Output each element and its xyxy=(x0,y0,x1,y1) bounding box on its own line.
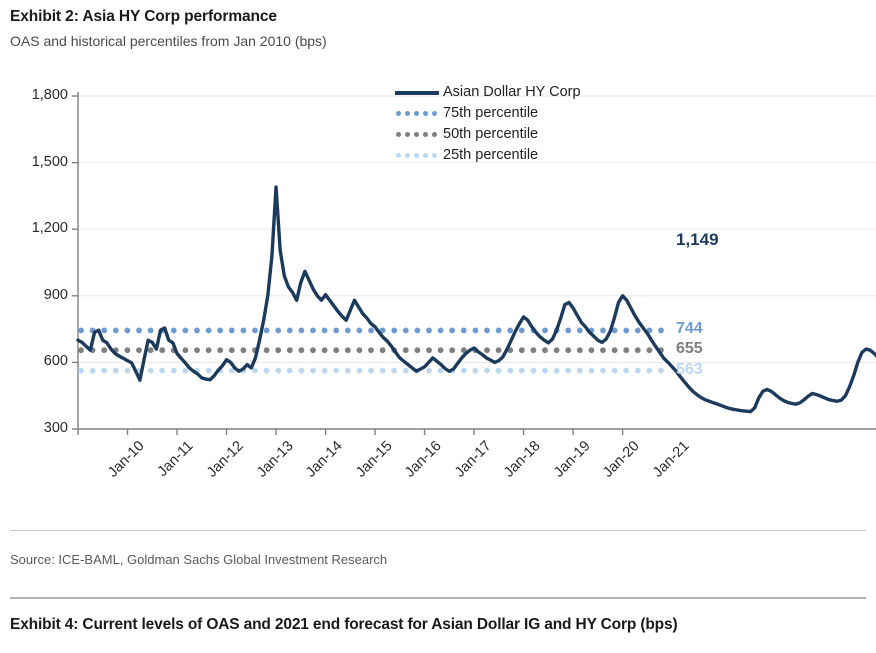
legend-label-p50: 50th percentile xyxy=(443,127,538,142)
y-tick-label: 1,800 xyxy=(4,87,68,103)
value-label-p25: 563 xyxy=(676,362,703,378)
legend-key-solid-line-icon xyxy=(395,87,439,99)
exhibit-2-title: Exhibit 2: Asia HY Corp performance xyxy=(10,8,277,26)
legend-item-p50: 50th percentile xyxy=(395,124,675,145)
value-label-p50: 655 xyxy=(676,341,703,357)
value-label-series: 1,149 xyxy=(676,231,719,248)
legend-item-series: Asian Dollar HY Corp xyxy=(395,82,675,103)
exhibit-2-subtitle: OAS and historical percentiles from Jan … xyxy=(10,33,327,49)
legend-key-dotted-p75-icon xyxy=(395,108,439,120)
y-tick-label: 1,200 xyxy=(4,220,68,236)
divider-above-source xyxy=(10,530,866,531)
asia-hy-corp-oas-chart: Asian Dollar HY Corp 75th percentile 50t… xyxy=(0,60,876,510)
exhibit-4-title: Exhibit 4: Current levels of OAS and 202… xyxy=(10,616,677,634)
y-tick-label: 900 xyxy=(4,287,68,303)
legend-label-p25: 25th percentile xyxy=(443,148,538,163)
value-label-p75: 744 xyxy=(676,321,703,337)
legend-key-dotted-p50-icon xyxy=(395,129,439,141)
legend-label-p75: 75th percentile xyxy=(443,106,538,121)
y-tick-label: 300 xyxy=(4,420,68,436)
y-tick-label: 600 xyxy=(4,353,68,369)
legend-label-series: Asian Dollar HY Corp xyxy=(443,85,581,100)
legend-key-dotted-p25-icon xyxy=(395,150,439,162)
legend-item-p25: 25th percentile xyxy=(395,145,675,166)
chart-legend: Asian Dollar HY Corp 75th percentile 50t… xyxy=(395,82,675,166)
source-note: Source: ICE-BAML, Goldman Sachs Global I… xyxy=(10,552,387,567)
y-tick-label: 1,500 xyxy=(4,154,68,170)
divider-above-exhibit-4 xyxy=(10,597,866,599)
legend-item-p75: 75th percentile xyxy=(395,103,675,124)
